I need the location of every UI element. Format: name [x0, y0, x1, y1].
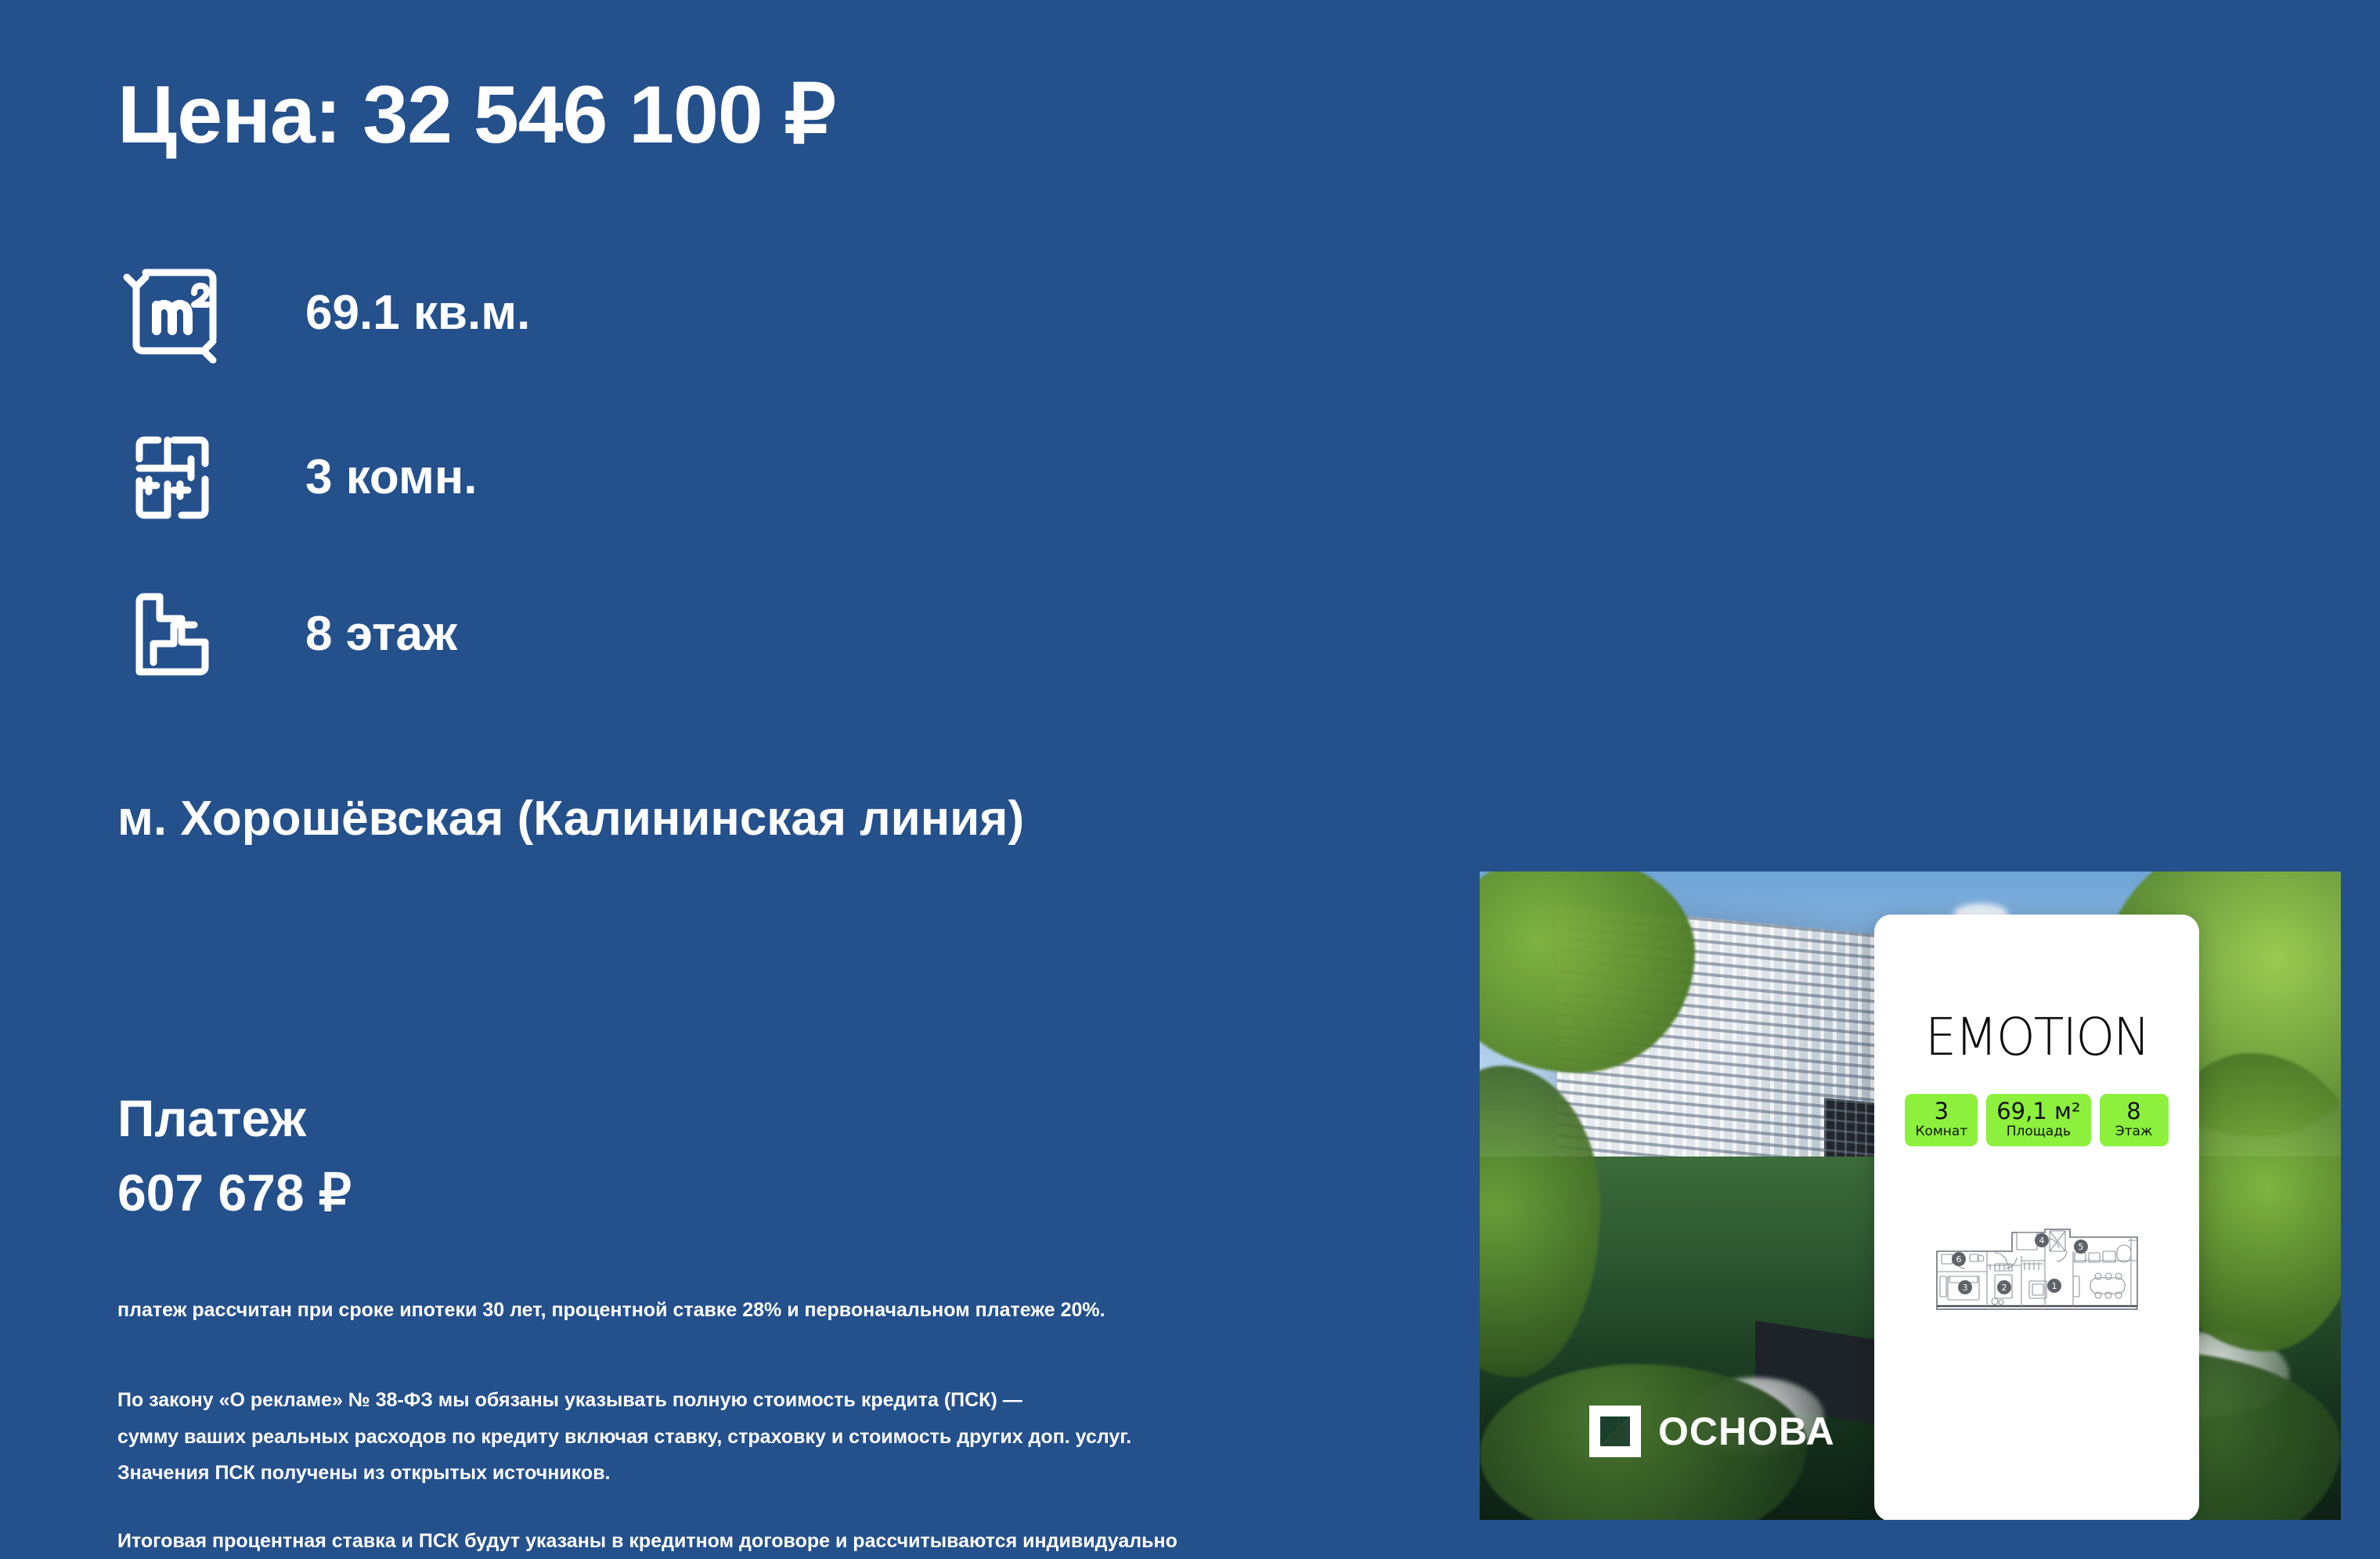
promo-banner: Цена: 32 546 100 ₽ 69.1 кв.м.	[0, 0, 2380, 1559]
badge-area-value: 69,1 м²	[1996, 1099, 2080, 1123]
spec-label-area: 69.1 кв.м.	[305, 289, 530, 337]
emotion-brand-logo: EMOTION	[1925, 1007, 2149, 1067]
legal-line-1: По закону «О рекламе» № 38-ФЗ мы обязаны…	[117, 1390, 1022, 1410]
badge-rooms: 3 Комнат	[1905, 1094, 1978, 1146]
legal-line-2: сумму ваших реальных расходов по кредиту…	[117, 1427, 1131, 1447]
promo-badges: 3 Комнат 69,1 м² Площадь 8 Этаж	[1905, 1094, 2168, 1146]
plan-marker-2: 2	[2001, 1283, 2007, 1293]
payment-note: платеж рассчитан при сроке ипотеки 30 ле…	[117, 1300, 1105, 1320]
spec-row-floor: 8 этаж	[117, 579, 457, 689]
payment-label: Платеж	[117, 1092, 306, 1144]
legal-line-3: Значения ПСК получены из открытых источн…	[117, 1463, 611, 1483]
badge-area: 69,1 м² Площадь	[1986, 1094, 2090, 1146]
metro-line: м. Хорошёвская (Калининская линия)	[117, 791, 1024, 846]
badge-rooms-label: Комнат	[1915, 1124, 1967, 1139]
spec-label-floor: 8 этаж	[305, 610, 457, 659]
building-floor-icon	[117, 579, 227, 689]
badge-area-label: Площадь	[1996, 1124, 2080, 1139]
plan-marker-3: 3	[1962, 1283, 1967, 1293]
floor-plan-rooms-icon	[117, 423, 227, 532]
plan-marker-6: 6	[1956, 1254, 1961, 1265]
plan-marker-1: 1	[2051, 1281, 2057, 1291]
osnova-mark-icon	[1589, 1406, 1641, 1457]
plan-marker-5: 5	[2078, 1242, 2083, 1252]
badge-rooms-value: 3	[1915, 1099, 1967, 1123]
building-photo: ОСНОВА EMOTION 3 Комнат 69,1 м² Площадь …	[1480, 872, 2341, 1520]
area-m2-icon	[117, 258, 227, 368]
developer-logo: ОСНОВА	[1589, 1406, 1835, 1457]
badge-floor-value: 8	[2110, 1099, 2158, 1123]
plan-marker-4: 4	[2039, 1236, 2044, 1246]
spec-row-area: 69.1 кв.м.	[117, 258, 530, 368]
legal-line-4: Итоговая процентная ставка и ПСК будут у…	[117, 1531, 1177, 1551]
badge-floor-label: Этаж	[2110, 1124, 2158, 1139]
developer-name: ОСНОВА	[1658, 1409, 1835, 1454]
price-title: Цена: 32 546 100 ₽	[117, 74, 835, 156]
payment-value: 607 678 ₽	[117, 1167, 352, 1218]
promo-card: EMOTION 3 Комнат 69,1 м² Площадь 8 Этаж	[1874, 915, 2199, 1520]
spec-label-rooms: 3 комн.	[305, 453, 478, 502]
spec-row-rooms: 3 комн.	[117, 423, 478, 532]
floor-plan: 1 2 3 4 5 6	[1920, 1225, 2155, 1362]
badge-floor: 8 Этаж	[2100, 1094, 2169, 1146]
